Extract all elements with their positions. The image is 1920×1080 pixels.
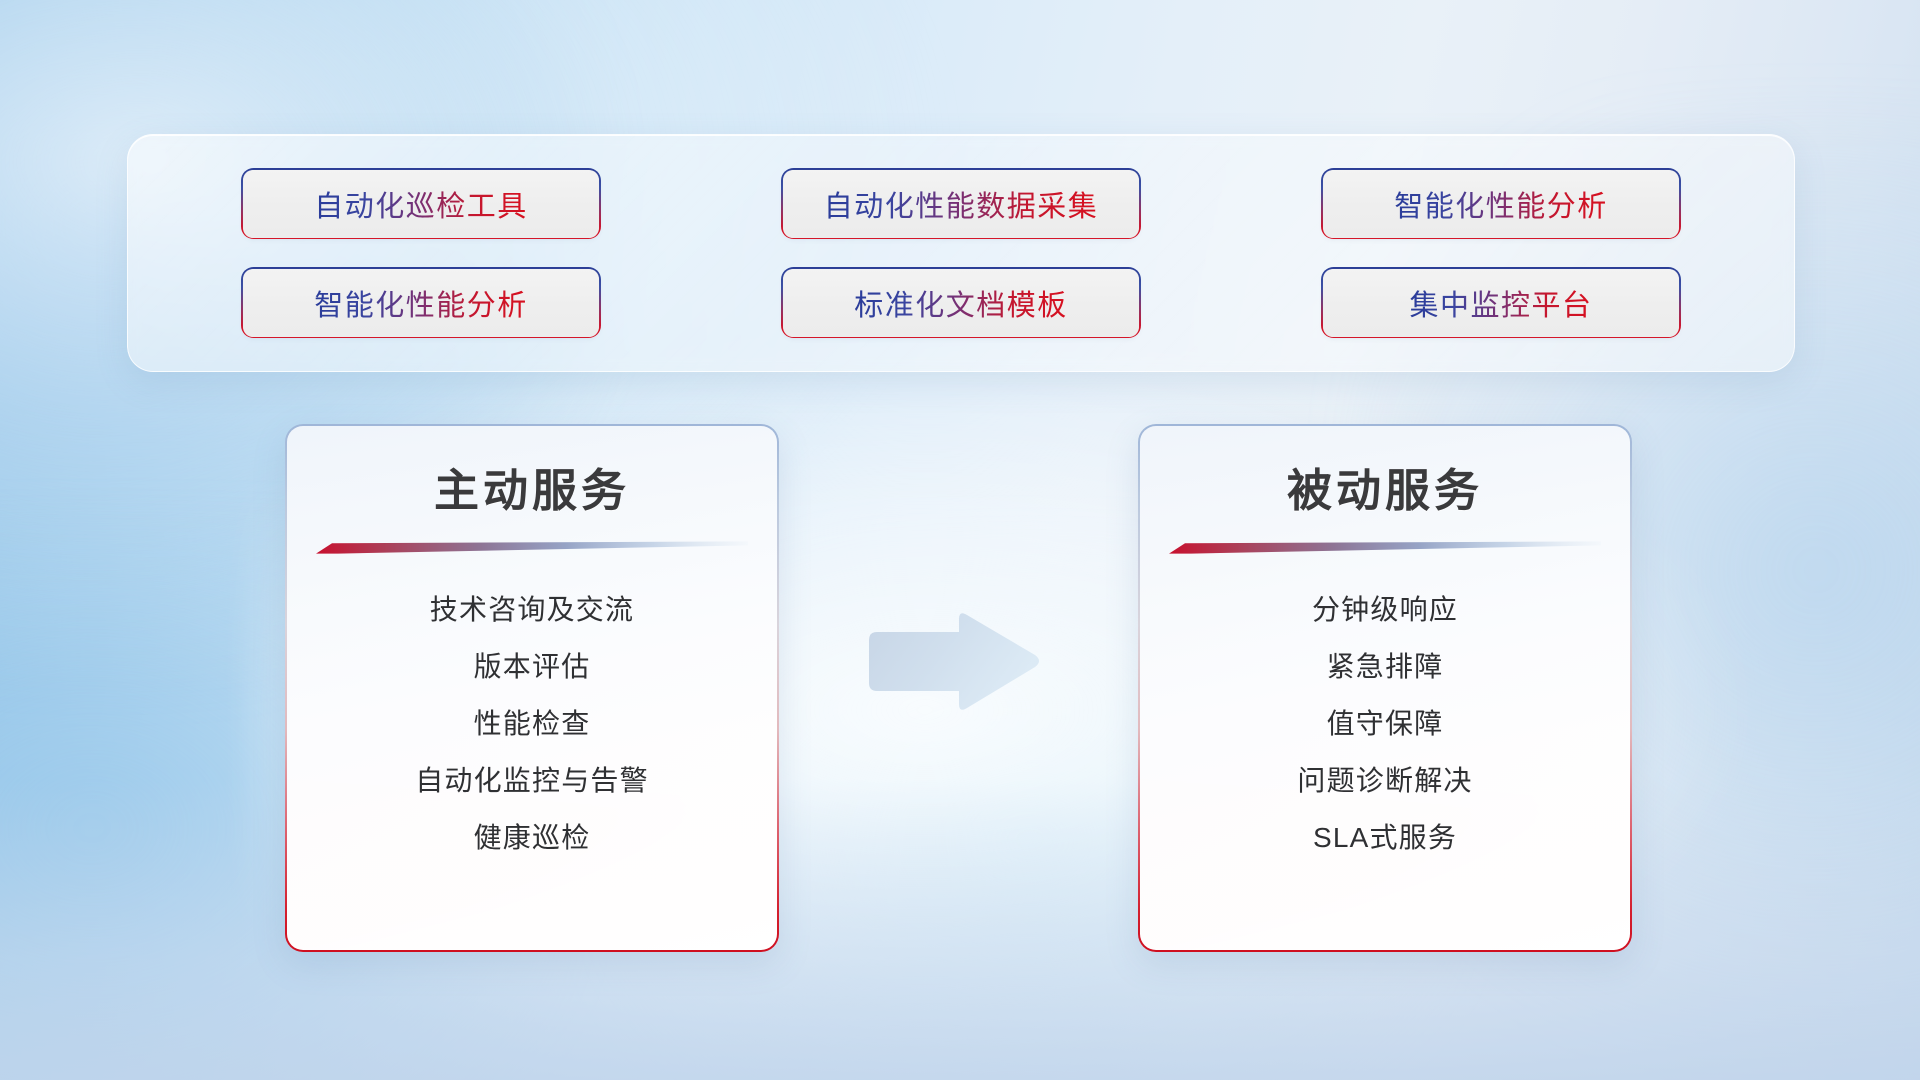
capability-pill-label: 智能化性能分析: [1394, 183, 1608, 225]
arrow-right-icon: [861, 608, 1046, 718]
service-card-body: 被动服务 分钟级响应 紧急排障 值守保障: [1140, 426, 1630, 950]
capability-pill-label: 自动化巡检工具: [314, 183, 528, 225]
title-underline-decoration: [316, 541, 748, 554]
list-item: 紧急排障: [1327, 639, 1444, 696]
list-item: 问题诊断解决: [1297, 753, 1472, 810]
service-card-list: 分钟级响应 紧急排障 值守保障 问题诊断解决 SLA式服务: [1140, 582, 1630, 867]
service-card-title: 主动服务: [434, 454, 630, 519]
service-card-title: 被动服务: [1287, 454, 1483, 519]
list-item: 技术咨询及交流: [430, 582, 634, 639]
capability-pill-label: 智能化性能分析: [314, 282, 528, 324]
service-card-proactive: 主动服务 技术咨询及交流 版本评估 性能检查: [285, 424, 779, 952]
list-item: 健康巡检: [474, 810, 591, 867]
service-card-reactive: 被动服务 分钟级响应 紧急排障 值守保障: [1138, 424, 1632, 952]
capability-pill-1[interactable]: 自动化巡检工具: [243, 170, 599, 238]
list-item: SLA式服务: [1313, 810, 1457, 867]
list-item: 值守保障: [1327, 696, 1444, 753]
title-underline-decoration: [1169, 541, 1601, 554]
capability-pill-label: 集中监控平台: [1409, 282, 1592, 324]
capability-pill-3[interactable]: 智能化性能分析: [1323, 170, 1679, 238]
capability-pill-4[interactable]: 智能化性能分析: [243, 269, 599, 337]
list-item: 版本评估: [474, 639, 591, 696]
list-item: 自动化监控与告警: [415, 753, 649, 810]
service-card-body: 主动服务 技术咨询及交流 版本评估 性能检查: [287, 426, 777, 950]
capability-pill-5[interactable]: 标准化文档模板: [783, 269, 1139, 337]
capability-panel: 自动化巡检工具 自动化性能数据采集 智能化性能分析 智能化性能分析 标准化文档模…: [127, 134, 1795, 372]
list-item: 分钟级响应: [1312, 582, 1458, 639]
capability-pill-grid: 自动化巡检工具 自动化性能数据采集 智能化性能分析 智能化性能分析 标准化文档模…: [128, 135, 1794, 371]
capability-pill-label: 标准化文档模板: [854, 282, 1068, 324]
capability-pill-label: 自动化性能数据采集: [824, 183, 1099, 225]
service-card-list: 技术咨询及交流 版本评估 性能检查 自动化监控与告警 健康巡检: [287, 582, 777, 867]
capability-pill-2[interactable]: 自动化性能数据采集: [783, 170, 1139, 238]
capability-pill-6[interactable]: 集中监控平台: [1323, 269, 1679, 337]
list-item: 性能检查: [474, 696, 591, 753]
